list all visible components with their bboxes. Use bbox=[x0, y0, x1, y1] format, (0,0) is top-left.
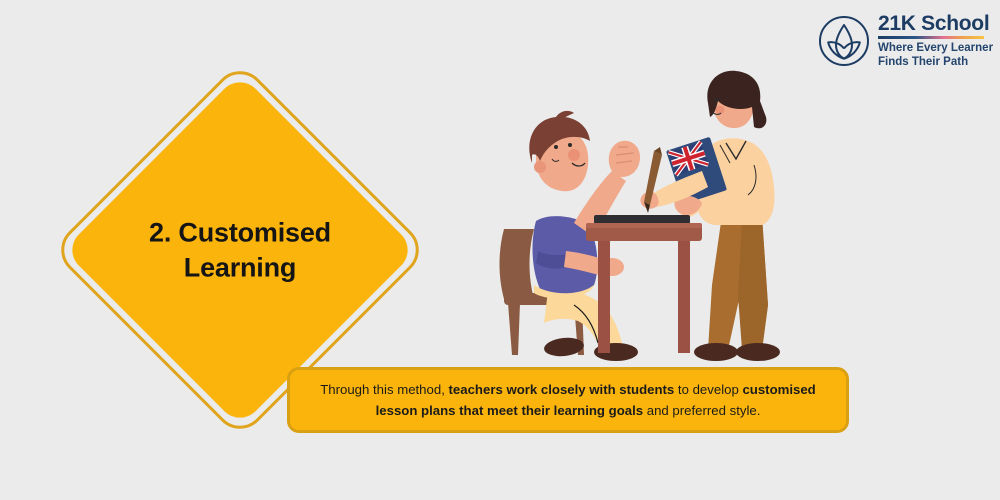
brand-gradient-rule bbox=[878, 36, 984, 39]
diamond-title: 2. Customised Learning bbox=[90, 215, 390, 284]
teacher-shoe-right bbox=[736, 343, 780, 361]
brand-name: 21K School bbox=[878, 13, 993, 34]
brand-logo[interactable]: 21K School Where Every Learner Finds The… bbox=[818, 13, 993, 69]
teacher-shoe-left bbox=[694, 343, 738, 361]
classroom-illustration bbox=[490, 55, 830, 365]
desk-book bbox=[594, 215, 690, 224]
student-raised-hand bbox=[609, 141, 640, 177]
desk bbox=[586, 215, 702, 353]
diamond-title-line1: 2. Customised bbox=[90, 215, 390, 250]
caption-box: Through this method, teachers work close… bbox=[287, 367, 849, 433]
brand-logo-text: 21K School Where Every Learner Finds The… bbox=[878, 13, 993, 69]
slide-canvas: 21K School Where Every Learner Finds The… bbox=[0, 0, 1000, 500]
brand-tagline: Where Every Learner Finds Their Path bbox=[878, 42, 993, 69]
diamond-title-line2: Learning bbox=[90, 250, 390, 285]
brand-tagline-line2: Finds Their Path bbox=[878, 56, 993, 70]
brand-tagline-line1: Where Every Learner bbox=[878, 42, 993, 56]
caption-text: Through this method, teachers work close… bbox=[308, 379, 828, 422]
